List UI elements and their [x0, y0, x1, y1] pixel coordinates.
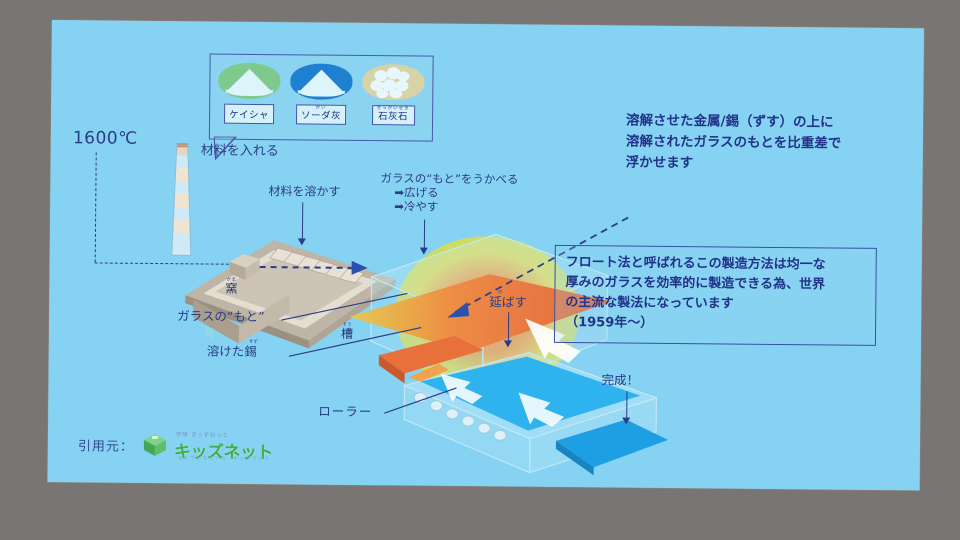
- material-label-0: ケイシャ: [229, 110, 269, 121]
- float-step-0: ガラスの“もと”をうかべる: [380, 171, 518, 186]
- projected-slide: 1600℃ ケイシャ: [48, 20, 924, 490]
- roller-label: ローラー: [318, 405, 372, 420]
- kidsnet-logo[interactable]: 学研 きっずねっと キッズネット なんでもなんでも キッズネット: [142, 431, 282, 460]
- kiln-label: かま 窯: [225, 278, 237, 296]
- material-label-1: ソーダ灰: [301, 110, 341, 121]
- stretch-leader: [508, 312, 510, 342]
- melt-materials-label: 材料を溶かす: [268, 184, 340, 199]
- sand-heap-icon: [218, 61, 280, 102]
- method-line-3: （1959年～）: [565, 313, 867, 336]
- glass-source-leader: [281, 290, 411, 327]
- stretch-label: の 延ばす: [489, 290, 527, 309]
- kiln-label-text: 窯: [225, 283, 237, 296]
- material-item-2: せっかいせき 石灰石: [360, 62, 427, 135]
- float-note-line-1: 溶解されたガラスのもとを比重差で: [626, 132, 926, 156]
- materials-caption: 材料を入れる: [201, 139, 279, 159]
- soda-ash-heap-icon: [290, 61, 352, 102]
- limestone-rocks-icon: [362, 62, 424, 103]
- material-caption-1: かい ソーダ灰: [296, 104, 346, 124]
- float-method-box: フロート法と呼ばれるこの製造方法は均一な 厚みのガラスを効率的に製造できる為、世…: [554, 245, 877, 346]
- kidsnet-logo-bottom: なんでもなんでも キッズネット: [178, 454, 271, 462]
- material-caption-0: ケイシャ: [224, 104, 274, 124]
- molten-tin-label: すず 溶けた錫: [207, 340, 258, 359]
- material-label-2: 石灰石: [378, 111, 408, 122]
- float-steps-leader: [424, 220, 426, 250]
- complete-label: 完成！: [601, 373, 639, 387]
- stretch-text: 延ばす: [489, 295, 527, 309]
- molten-tin-text: 溶けた錫: [207, 345, 258, 359]
- float-steps-arrow: [420, 248, 428, 255]
- molten-tin-leader: [289, 324, 425, 361]
- roller-leader: [384, 385, 460, 418]
- float-steps-label: ガラスの“もと”をうかべる ➡広げる ➡冷やす: [380, 171, 518, 214]
- float-step-1: ➡広げる: [394, 185, 518, 200]
- source-label: 引用元：: [78, 435, 134, 455]
- materials-callout-box: ケイシャ かい ソーダ灰: [209, 54, 434, 142]
- green-cube-icon: [142, 432, 168, 458]
- material-caption-2: せっかいせき 石灰石: [372, 105, 415, 125]
- temperature-leader-line: [95, 152, 97, 262]
- stretch-arrow: [504, 340, 512, 347]
- screenshot-root: 1600℃ ケイシャ: [0, 0, 960, 540]
- material-item-1: かい ソーダ灰: [288, 61, 355, 134]
- complete-arrow: [622, 417, 630, 424]
- material-item-0: ケイシャ: [216, 61, 283, 134]
- float-note-line-0: 溶解させた金属/錫（ずす）の上に: [626, 111, 926, 135]
- source-credit: 引用元： 学研 きっずねっと キッズネット なんでもなんでも キッズネット: [78, 430, 282, 460]
- temperature-label: 1600℃: [73, 128, 138, 149]
- float-step-2: ➡冷やす: [394, 199, 518, 214]
- float-principle-note: 溶解させた金属/錫（ずす）の上に 溶解されたガラスのもとを比重差で 浮かせます: [626, 111, 927, 177]
- glass-source-label: ガラスの“もと”: [177, 309, 265, 324]
- float-note-line-2: 浮かせます: [626, 153, 926, 177]
- melt-materials-arrow: [298, 238, 306, 245]
- complete-leader: [626, 392, 628, 420]
